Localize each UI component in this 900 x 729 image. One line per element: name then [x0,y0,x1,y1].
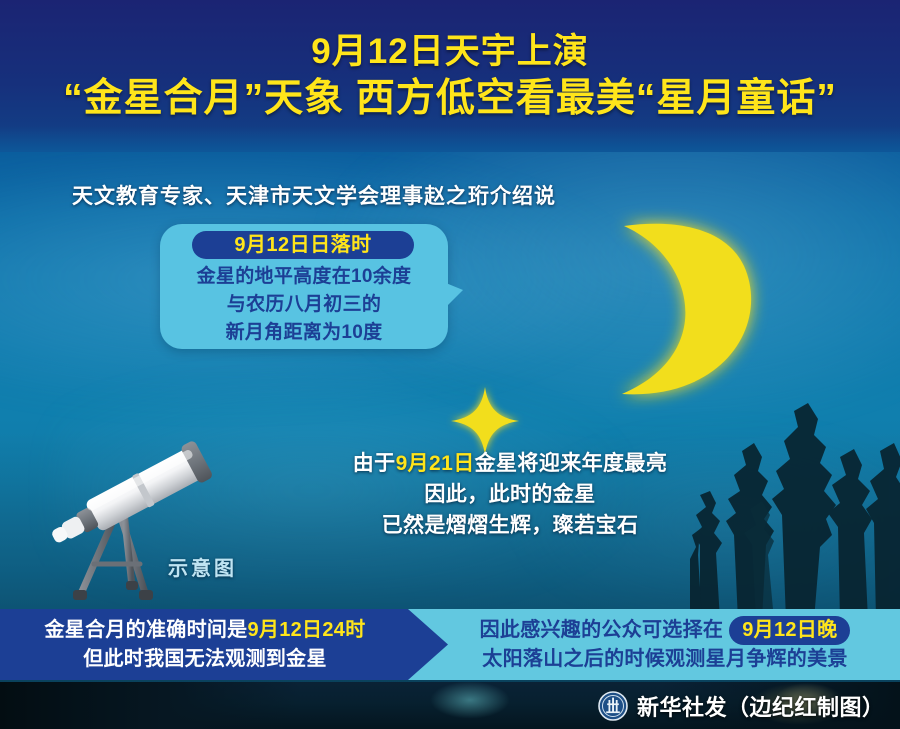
bar-left-line-1: 金星合月的准确时间是9月12日24时 [44,616,365,645]
info-bar-left: 金星合月的准确时间是9月12日24时 但此时我国无法观测到金星 [0,609,410,680]
bubble-line-1: 金星的地平高度在10余度 [160,263,448,291]
bubble-badge-label: 9月12日日落时 [234,235,371,255]
center-line-1-highlight: 9月21日 [396,452,475,475]
info-bar-right: 因此感兴趣的公众可选择在9月12日晚 太阳落山之后的时候观测星月争辉的美景 [430,609,900,680]
speech-bubble-tail [441,281,463,312]
bubble-line-3: 新月角距离为10度 [160,319,448,347]
expert-subtitle: 天文教育专家、天津市天文学会理事赵之珩介绍说 [72,180,556,210]
center-line-1: 由于9月21日金星将迎来年度最亮 [300,448,720,479]
center-line-1-post: 金星将迎来年度最亮 [475,452,668,475]
bar-right-line-2: 太阳落山之后的时候观测星月争辉的美景 [482,645,847,674]
title-line-2: “金星合月”天象 西方低空看最美“星月童话” [0,74,900,124]
crescent-moon-icon [596,204,806,414]
bar-right-date-pill: 9月12日晚 [729,616,850,645]
center-line-2: 因此，此时的金星 [300,479,720,510]
bar-left-line-1-pre: 金星合月的准确时间是 [44,619,247,641]
center-line-1-pre: 由于 [353,452,396,475]
xinhua-logo-icon [598,691,628,721]
bar-left-line-2: 但此时我国无法观测到金星 [83,645,327,674]
infographic-poster: 9月12日天宇上演 “金星合月”天象 西方低空看最美“星月童话” 天文教育专家、… [0,0,900,729]
center-line-3: 已然是熠熠生辉，璨若宝石 [300,510,720,541]
speech-bubble: 9月12日日落时 金星的地平高度在10余度 与农历八月初三的 新月角距离为10度 [160,224,448,349]
footer-shadow-left [0,682,300,729]
telescope-caption: 示意图 [168,552,237,581]
bubble-body: 金星的地平高度在10余度 与农历八月初三的 新月角距离为10度 [160,263,448,347]
bubble-line-2: 与农历八月初三的 [160,291,448,319]
center-description: 由于9月21日金星将迎来年度最亮 因此，此时的金星 已然是熠熠生辉，璨若宝石 [300,448,720,541]
title-line-1: 9月12日天宇上演 [0,30,900,74]
bar-right-line-1-pre: 因此感兴趣的公众可选择在 [480,616,724,645]
poster-title: 9月12日天宇上演 “金星合月”天象 西方低空看最美“星月童话” [0,30,900,124]
bubble-date-badge: 9月12日日落时 [192,231,414,259]
telescope-illustration [28,436,288,606]
tree-silhouette [690,395,900,620]
credit-text: 新华社发（边纪红制图） [637,690,885,722]
bar-right-line-1: 因此感兴趣的公众可选择在9月12日晚 [480,616,851,645]
credit-line: 新华社发（边纪红制图） [598,689,885,723]
bar-left-line-1-highlight: 9月12日24时 [247,619,365,641]
